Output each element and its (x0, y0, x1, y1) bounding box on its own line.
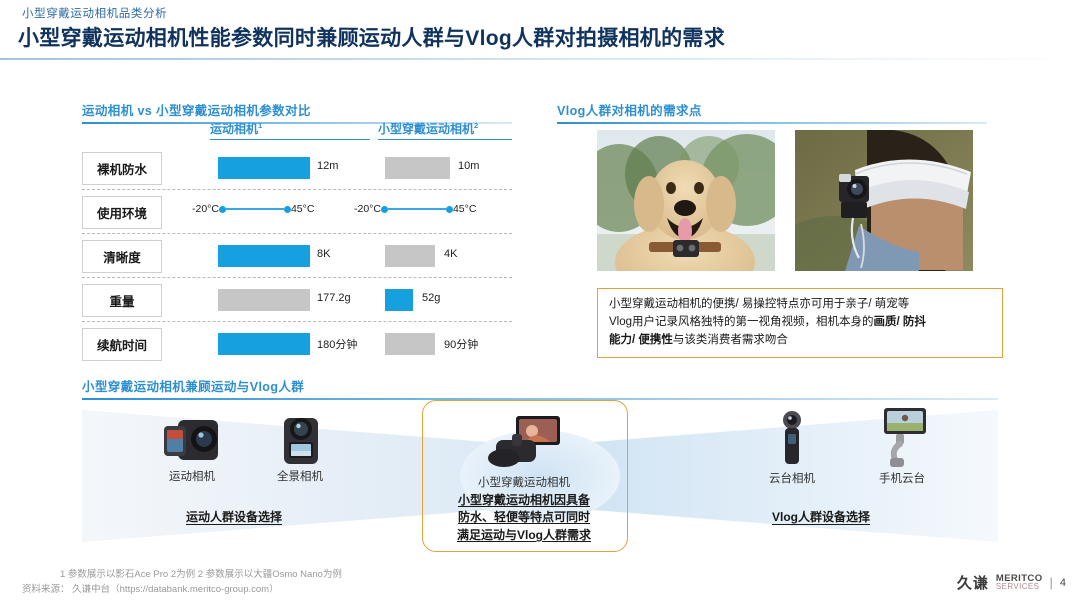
phone-gimbal-icon (872, 406, 932, 468)
funnel-diagram: 运动相机 全景相机 运动人群设备选择 (82, 404, 998, 546)
brand-mark: MERITCO SERVICES (996, 574, 1043, 592)
column-header-wearable-camera: 小型穿戴运动相机2 (378, 120, 512, 140)
table-row: 续航时间 180分钟 90分钟 (82, 321, 512, 365)
vlog-photo-group (597, 130, 980, 271)
callout-emphasis-2: 能力/ 便携性 (609, 334, 673, 346)
callout-line-2a: Vlog用户记录风格独特的第一视角视频，相机本身的 (609, 316, 874, 328)
device-gimbal-camera: 云台相机 (744, 410, 840, 486)
row-label: 清晰度 (82, 240, 162, 273)
dog-photo-illustration (597, 130, 775, 271)
device-wearable-action-camera (422, 414, 626, 470)
bar-action (218, 157, 310, 179)
comparison-column-headers: 运动相机1 小型穿戴运动相机2 (82, 120, 512, 146)
comparison-section-title: 运动相机 vs 小型穿戴运动相机参数对比 (82, 100, 512, 119)
comparison-table: 运动相机1 小型穿戴运动相机2 裸机防水 12m 10m 使用环境 -20°C (82, 120, 512, 365)
temp-min-wearable: -20°C (354, 203, 381, 215)
center-text-line-3: 满足运动与Vlog人群需求 (457, 528, 591, 542)
eyebrow-label: 小型穿戴运动相机品类分析 (22, 5, 167, 21)
bar-action (218, 333, 310, 355)
device-label: 运动相机 (144, 468, 240, 484)
device-label: 手机云台 (854, 470, 950, 486)
bar-value-action: 177.2g (317, 292, 351, 304)
vlog-section-header: Vlog人群对相机的需求点 (557, 100, 987, 124)
center-text-line-1: 小型穿戴运动相机因具备 (458, 493, 590, 507)
bar-wearable (385, 333, 435, 355)
vlog-section-rule (557, 122, 987, 124)
device-panoramic-camera: 全景相机 (252, 412, 348, 484)
temp-dot-min-icon (381, 206, 388, 213)
head-camera-photo-illustration (795, 130, 973, 271)
temp-line-wearable (388, 208, 446, 210)
page-number: 4 (1060, 577, 1066, 589)
bar-value-action: 180分钟 (317, 336, 357, 352)
center-text-line-2: 防水、轻便等特点可同时 (458, 510, 590, 524)
bar-value-action: 12m (317, 160, 338, 172)
title-divider (0, 58, 1080, 60)
device-label: 云台相机 (744, 470, 840, 486)
photo-dog-with-collar-camera (597, 130, 775, 271)
center-device-label: 小型穿戴运动相机 (422, 474, 626, 490)
temp-dot-max-icon (446, 206, 453, 213)
bar-value-action: 8K (317, 248, 330, 260)
device-label: 全景相机 (252, 468, 348, 484)
table-row: 重量 177.2g 52g (82, 277, 512, 321)
bar-value-wearable: 4K (444, 248, 457, 260)
temp-dot-min-icon (219, 206, 226, 213)
page-title: 小型穿戴运动相机性能参数同时兼顾运动人群与Vlog人群对拍摄相机的需求 (18, 22, 725, 52)
wearable-action-camera-icon (482, 414, 566, 470)
bar-action (218, 245, 310, 267)
row-label: 使用环境 (82, 196, 162, 229)
funnel-section-header: 小型穿戴运动相机兼顾运动与Vlog人群 (82, 376, 998, 400)
temp-dot-max-icon (284, 206, 291, 213)
row-label: 续航时间 (82, 328, 162, 361)
vlog-section-title: Vlog人群对相机的需求点 (557, 100, 987, 119)
brand-cjk-label: 久谦 (957, 572, 989, 593)
device-phone-gimbal: 手机云台 (854, 406, 950, 486)
brand-line-2: SERVICES (996, 583, 1043, 591)
row-label: 裸机防水 (82, 152, 162, 185)
column-header-wearable-camera-underline (378, 139, 512, 141)
row-label: 重量 (82, 284, 162, 317)
callout-line-3b: 与该类消费者需求吻合 (673, 334, 788, 346)
temp-line-action (226, 208, 284, 210)
table-row: 裸机防水 12m 10m (82, 146, 512, 189)
bar-action (218, 289, 310, 311)
callout-line-1: 小型穿戴运动相机的便携/ 易操控特点亦可用于亲子/ 萌宠等 (609, 298, 909, 310)
photo-man-with-head-mounted-camera (795, 130, 973, 271)
action-camera-icon (160, 414, 224, 466)
bar-wearable (385, 289, 413, 311)
table-row: 清晰度 8K 4K (82, 233, 512, 277)
right-group-caption: Vlog人群设备选择 (772, 508, 870, 525)
column-header-action-camera-underline (210, 139, 370, 141)
callout-emphasis-1: 画质/ 防抖 (874, 316, 926, 328)
funnel-section-title: 小型穿戴运动相机兼顾运动与Vlog人群 (82, 376, 998, 395)
column-header-wearable-camera-label: 小型穿戴运动相机 (378, 122, 474, 136)
device-action-camera: 运动相机 (144, 414, 240, 484)
table-row: 使用环境 -20°C 45°C -20°C 45°C (82, 189, 512, 233)
temp-min-action: -20°C (192, 203, 219, 215)
bar-wearable (385, 245, 435, 267)
center-highlight-text: 小型穿戴运动相机因具备 防水、轻便等特点可同时 满足运动与Vlog人群需求 (422, 492, 626, 544)
temperature-range-action: -20°C 45°C (192, 203, 314, 215)
left-group-caption: 运动人群设备选择 (186, 508, 282, 525)
brand-logo: 久谦 MERITCO SERVICES | 4 (957, 572, 1066, 593)
vlog-callout-box: 小型穿戴运动相机的便携/ 易操控特点亦可用于亲子/ 萌宠等 Vlog用户记录风格… (597, 288, 1003, 358)
gimbal-camera-icon (772, 410, 812, 468)
column-header-action-camera-footnote: 1 (258, 121, 262, 130)
bar-wearable (385, 157, 450, 179)
slide: 小型穿戴运动相机品类分析 小型穿戴运动相机性能参数同时兼顾运动人群与Vlog人群… (0, 0, 1080, 607)
column-header-wearable-camera-footnote: 2 (474, 121, 478, 130)
temp-max-action: 45°C (291, 203, 314, 215)
column-header-action-camera: 运动相机1 (210, 120, 370, 140)
bar-value-wearable: 10m (458, 160, 479, 172)
bar-value-wearable: 52g (422, 292, 440, 304)
temp-max-wearable: 45°C (453, 203, 476, 215)
brand-separator: | (1049, 575, 1052, 590)
temperature-range-wearable: -20°C 45°C (354, 203, 476, 215)
column-header-action-camera-label: 运动相机 (210, 122, 258, 136)
panoramic-camera-icon (272, 412, 328, 466)
bar-value-wearable: 90分钟 (444, 336, 478, 352)
source-note: 资料来源： 久谦中台（https://databank.meritco-grou… (22, 581, 279, 595)
